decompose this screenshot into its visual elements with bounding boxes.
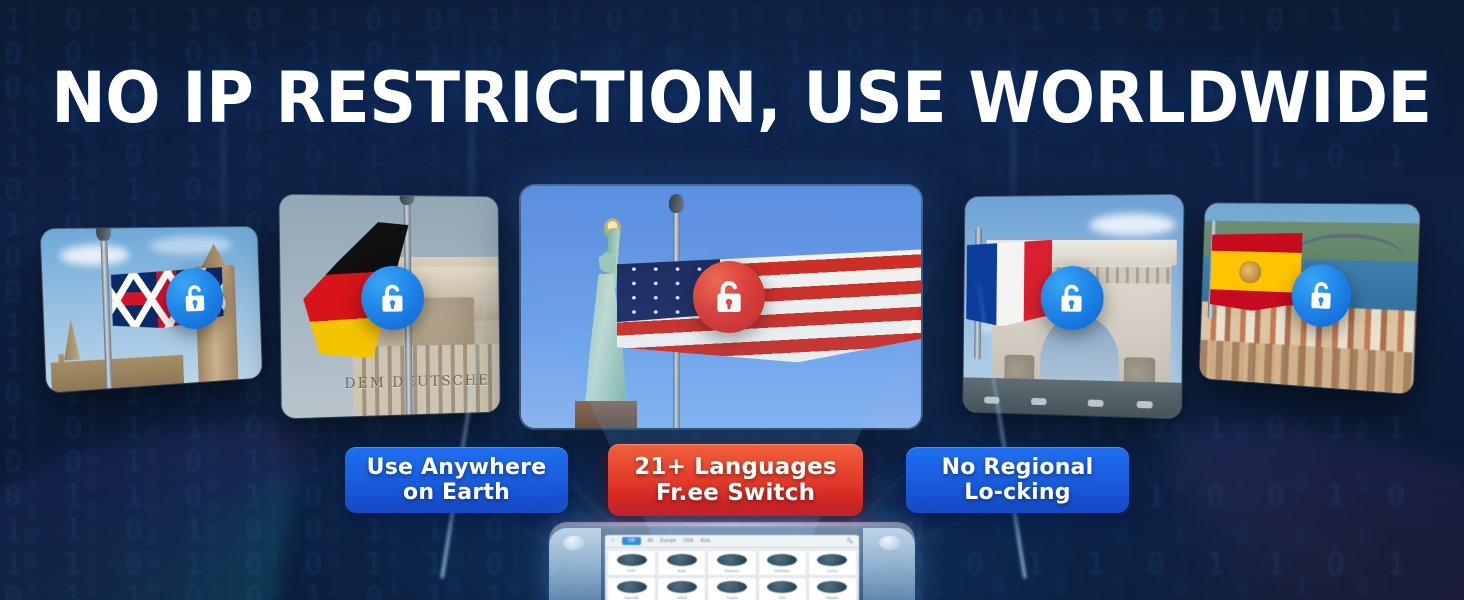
search-icon[interactable]: 🔍 xyxy=(847,538,853,544)
list-item[interactable]: Lexus xyxy=(808,550,857,576)
brand-caption: Lexus xyxy=(827,568,838,573)
padlock-glyph xyxy=(1305,278,1339,314)
brand-logo xyxy=(717,554,747,566)
feature-badge-use-anywhere[interactable]: Use Anywhere on Earth xyxy=(345,447,568,513)
list-item[interactable]: Infiniti xyxy=(657,577,706,600)
brand-logo xyxy=(717,581,747,593)
padlock-glyph xyxy=(179,281,211,316)
brand-logo xyxy=(817,554,847,566)
country-card-spain[interactable] xyxy=(1199,203,1420,394)
list-item[interactable]: Daihatsu xyxy=(758,550,807,576)
list-item[interactable]: Audi xyxy=(657,550,706,576)
country-card-germany[interactable]: DEM DEUTSCHE xyxy=(280,195,500,419)
page-title: NO IP RESTRICTION, USE WORLDWIDE xyxy=(51,62,1413,134)
brand-caption: KIA xyxy=(779,595,785,600)
brand-caption: FIAT xyxy=(627,568,635,573)
device-toolbar[interactable]: ☉ VIP All Europe USA Asia 🔍 xyxy=(605,535,859,548)
spain-flag xyxy=(1210,231,1303,312)
car xyxy=(1087,400,1103,408)
tab-all[interactable]: All xyxy=(648,538,654,544)
tab-europe[interactable]: Europe xyxy=(660,538,676,544)
brand-logo xyxy=(667,581,697,593)
car xyxy=(1031,398,1047,405)
code-line: 1 1 0 1 0 0 1 1 0 1 1 0 1 0 1 0 0 1 1 0 … xyxy=(0,4,1416,55)
device-brand-grid[interactable]: FIAT Audi Daewoo Daihatsu Lexus Hyundai … xyxy=(605,548,859,600)
brand-logo xyxy=(617,581,647,593)
pedestal xyxy=(575,401,637,428)
device-screen[interactable]: ☉ VIP All Europe USA Asia 🔍 FIAT Audi Da… xyxy=(605,535,859,600)
flagpole-finial xyxy=(669,194,684,213)
list-item[interactable]: Hyundai xyxy=(607,577,656,600)
brand-caption: Nissan xyxy=(826,595,838,600)
list-item[interactable]: KIA xyxy=(758,577,807,600)
brand-caption: Infiniti xyxy=(677,595,687,600)
brand-logo xyxy=(667,554,697,566)
padlock-glyph xyxy=(375,280,410,315)
padlock-icon[interactable] xyxy=(693,261,765,333)
brand-caption: Toyota xyxy=(726,595,738,600)
cloud xyxy=(1089,213,1176,236)
country-card-uk[interactable] xyxy=(41,227,263,393)
tab-asia[interactable]: Asia xyxy=(701,538,711,544)
list-item[interactable]: Toyota xyxy=(707,577,756,600)
head xyxy=(599,253,616,272)
brand-logo xyxy=(817,581,847,593)
country-photo-uk xyxy=(41,227,263,393)
brand-logo xyxy=(767,554,797,566)
brand-logo xyxy=(767,581,797,593)
brand-caption: Daihatsu xyxy=(774,568,790,573)
france-flag xyxy=(966,240,1052,327)
device-grip-right xyxy=(863,528,915,600)
brand-caption: Hyundai xyxy=(624,595,639,600)
brand-logo xyxy=(617,554,647,566)
tab-usa[interactable]: USA xyxy=(683,538,693,544)
brand-caption: Daewoo xyxy=(725,568,740,573)
vip-chip[interactable]: VIP xyxy=(622,537,640,545)
padlock-glyph xyxy=(1055,280,1090,315)
car xyxy=(984,397,999,404)
list-item[interactable]: Nissan xyxy=(808,577,857,600)
list-item[interactable]: FIAT xyxy=(607,550,656,576)
device-knob xyxy=(879,536,901,550)
list-item[interactable]: Daewoo xyxy=(707,550,756,576)
tablet-device[interactable]: ☉ VIP All Europe USA Asia 🔍 FIAT Audi Da… xyxy=(549,524,915,600)
car xyxy=(1136,401,1152,409)
country-card-france[interactable] xyxy=(963,195,1183,419)
brand-caption: Audi xyxy=(678,568,686,573)
country-card-usa[interactable] xyxy=(521,186,921,428)
device-grip-left xyxy=(549,528,601,600)
promo-banner: 1 0 1 1 0 1 0 0 1 1 0 1 1 0 0 1 0 1 1 0 … xyxy=(0,0,1464,600)
home-icon[interactable]: ☉ xyxy=(611,538,615,544)
feature-badge-languages[interactable]: 21+ Languages Fr.ee Switch xyxy=(608,444,863,516)
device-knob xyxy=(563,536,585,550)
padlock-glyph xyxy=(709,277,749,317)
feature-badge-no-regional-locking[interactable]: No Regional Lo-cking xyxy=(906,447,1129,513)
